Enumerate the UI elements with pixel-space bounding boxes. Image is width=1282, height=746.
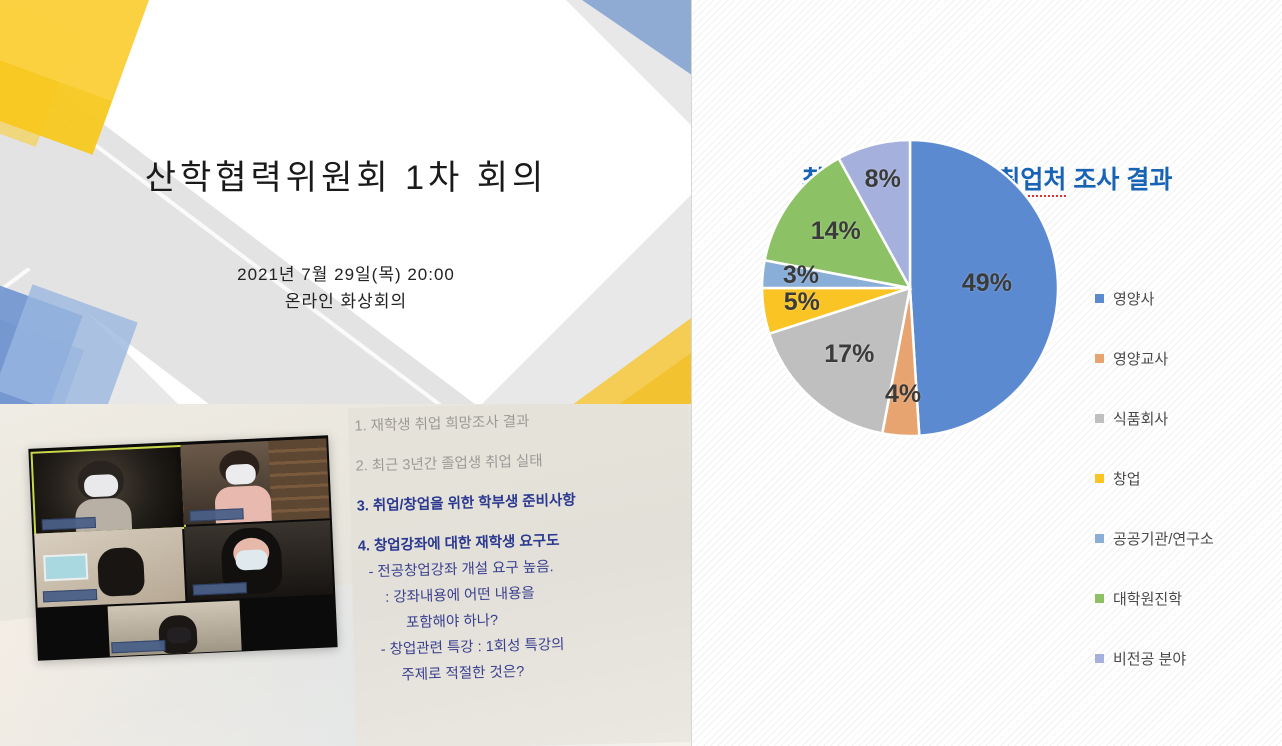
legend-item-공공기관/연구소[interactable]: 공공기관/연구소	[1095, 508, 1280, 568]
video-call-grid	[28, 435, 337, 660]
legend-label: 영양사	[1113, 288, 1154, 309]
chart-panel: 최근 3년간 졸업생 취업처 조사 결과 49%4%17%5%3%14%8% 영…	[692, 0, 1282, 746]
chart-legend: 영양사영양교사식품회사창업공공기관/연구소대학원진학비전공 분야	[1095, 268, 1280, 688]
participant-name-bar	[43, 589, 97, 602]
legend-label: 식품회사	[1113, 408, 1168, 429]
meeting-datetime: 2021년 7월 29일(목) 20:00	[0, 261, 692, 288]
legend-swatch-icon	[1095, 354, 1104, 363]
legend-label: 비전공 분야	[1113, 648, 1186, 669]
decor-triangle-yellow-inner	[614, 348, 692, 404]
agenda-detail-3: 포함해야 하나?	[360, 605, 690, 634]
legend-label: 창업	[1113, 468, 1141, 489]
legend-swatch-icon	[1095, 654, 1104, 663]
pie-label-공공기관/연구소: 3%	[775, 261, 827, 290]
meeting-mode: 온라인 화상회의	[0, 288, 692, 315]
legend-swatch-icon	[1095, 474, 1104, 483]
agenda-detail-5: 주제로 적절한 것은?	[361, 657, 691, 686]
title-block: 산학협력위원회 1차 회의 2021년 7월 29일(목) 20:00 온라인 …	[0, 150, 692, 315]
legend-swatch-icon	[1095, 414, 1104, 423]
agenda-item-2: 2. 최근 3년간 졸업생 취업 실태	[355, 447, 685, 476]
pie-label-식품회사: 17%	[823, 340, 875, 369]
legend-label: 공공기관/연구소	[1113, 528, 1214, 549]
slide-screenshot: 산학협력위원회 1차 회의 2021년 7월 29일(목) 20:00 온라인 …	[0, 0, 1282, 746]
pie-chart: 49%4%17%5%3%14%8%	[760, 138, 1060, 438]
participant-tile-5	[108, 600, 242, 656]
agenda-detail-4: - 창업관련 특강 : 1회성 특강의	[360, 631, 690, 660]
legend-item-영양교사[interactable]: 영양교사	[1095, 328, 1280, 388]
participant-tile-2	[180, 438, 329, 525]
participant-name-bar	[111, 640, 165, 653]
pie-label-비전공 분야: 8%	[857, 165, 909, 194]
decor-triangle-blue	[582, 0, 692, 82]
legend-item-창업[interactable]: 창업	[1095, 448, 1280, 508]
pie-label-창업: 5%	[776, 288, 828, 317]
pie-label-영양사: 49%	[961, 269, 1013, 298]
legend-swatch-icon	[1095, 594, 1104, 603]
legend-swatch-icon	[1095, 294, 1104, 303]
meeting-photo: 1. 재학생 취업 희망조사 결과 2. 최근 3년간 졸업생 취업 실태 3.…	[0, 404, 692, 746]
agenda-detail-2: : 강좌내용에 어떤 내용을	[359, 579, 689, 608]
chart-title-post: 조사 결과	[1066, 166, 1172, 194]
legend-item-대학원진학[interactable]: 대학원진학	[1095, 568, 1280, 628]
slide-title-area: 산학협력위원회 1차 회의 2021년 7월 29일(목) 20:00 온라인 …	[0, 0, 692, 404]
pie-label-대학원진학: 14%	[810, 217, 862, 246]
title-slide-panel: 산학협력위원회 1차 회의 2021년 7월 29일(목) 20:00 온라인 …	[0, 0, 692, 746]
legend-item-비전공 분야[interactable]: 비전공 분야	[1095, 628, 1280, 688]
slide-subtitle: 2021년 7월 29일(목) 20:00 온라인 화상회의	[0, 261, 692, 315]
participant-tile-3	[34, 527, 185, 608]
participant-tile-4	[184, 520, 333, 601]
agenda-item-3: 3. 취업/창업을 위한 학부생 준비사항	[356, 487, 686, 516]
agenda-item-4: 4. 창업강좌에 대한 재학생 요구도	[358, 527, 688, 556]
legend-label: 대학원진학	[1113, 588, 1182, 609]
legend-item-식품회사[interactable]: 식품회사	[1095, 388, 1280, 448]
pie-label-영양교사: 4%	[877, 380, 929, 409]
participant-tile-1	[30, 445, 186, 536]
legend-item-영양사[interactable]: 영양사	[1095, 268, 1280, 328]
agenda-list: 1. 재학생 취업 희망조사 결과 2. 최근 3년간 졸업생 취업 실태 3.…	[354, 407, 692, 690]
page-title: 산학협력위원회 1차 회의	[0, 150, 692, 199]
legend-label: 영양교사	[1113, 348, 1168, 369]
agenda-detail-1: - 전공창업강좌 개설 요구 높음.	[358, 553, 688, 582]
legend-swatch-icon	[1095, 534, 1104, 543]
